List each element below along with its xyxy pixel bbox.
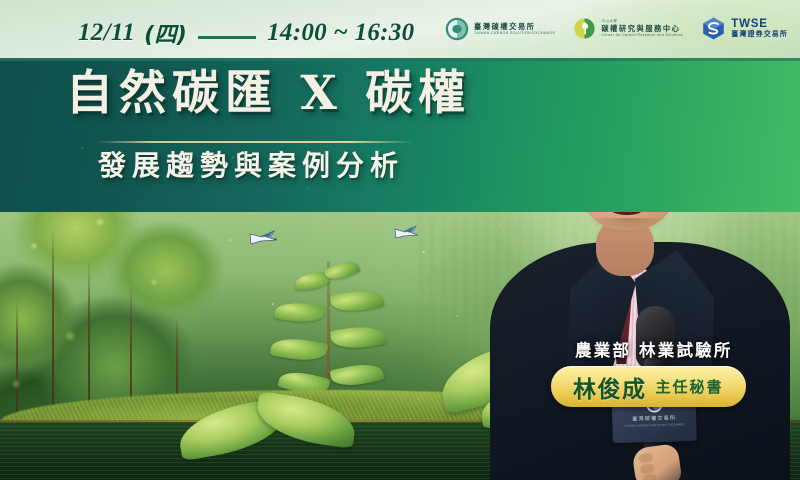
speaker-name: 林俊成 xyxy=(573,370,647,404)
carbon-exchange-mark-icon xyxy=(445,17,469,41)
title-divider xyxy=(96,141,414,143)
speaker-role: 主任秘書 xyxy=(656,376,724,397)
logo-text-block: TWSE 臺灣證券交易所 xyxy=(731,18,788,39)
mic-flag-brand-cjk: 臺灣碳權交易所 xyxy=(632,414,676,422)
logo-text-block: 中山大學 碳權研究與服務中心 Center for Carbon Researc… xyxy=(601,19,683,37)
logo-title-en: TWSE xyxy=(731,18,788,31)
logo-title-cjk: 臺灣證券交易所 xyxy=(731,31,788,39)
flying-bird-icon xyxy=(393,224,419,245)
foreground-leaf-plant-left xyxy=(178,398,348,480)
page-subtitle: 發展趨勢與案例分析 xyxy=(98,152,404,180)
logo-title-en: Center for Carbon Research and Solutions xyxy=(601,33,683,38)
flying-bird-icon xyxy=(248,228,278,251)
logo-title-en: TAIWAN CARBON SOLUTION EXCHANGE xyxy=(474,31,555,36)
speaker-chin-shadow xyxy=(588,218,668,234)
twse-hexagon-mark-icon xyxy=(701,16,726,41)
header-bar: 12/11 (四) 14:00 ~ 16:30 臺灣碳權交易所 TAIWAN C… xyxy=(0,0,800,61)
speaker-name-badge: 林俊成 主任秘書 xyxy=(551,366,746,407)
datetime-separator-rule xyxy=(198,36,256,39)
event-weekday: (四) xyxy=(144,17,187,49)
partner-logos: 臺灣碳權交易所 TAIWAN CARBON SOLUTION EXCHANGE … xyxy=(445,16,788,41)
leaf-person-mark-icon xyxy=(573,17,596,40)
logo-title-cjk: 臺灣碳權交易所 xyxy=(474,22,555,31)
event-time-range: 14:00 ~ 16:30 xyxy=(267,19,414,47)
event-datetime: 12/11 (四) 14:00 ~ 16:30 xyxy=(78,17,414,49)
speaker-organization: 農業部 林業試驗所 xyxy=(575,337,733,361)
speaker-hand xyxy=(631,443,682,480)
logo-center-for-carbon-research-and-solutions[interactable]: 中山大學 碳權研究與服務中心 Center for Carbon Researc… xyxy=(573,17,683,40)
title-band-fade xyxy=(440,61,800,212)
event-poster: 臺灣碳權交易所 TAIWAN CARBON SOLUTION EXCHANGE … xyxy=(0,0,800,480)
logo-title-cjk: 碳權研究與服務中心 xyxy=(601,24,683,33)
logo-twse[interactable]: TWSE 臺灣證券交易所 xyxy=(701,16,788,41)
logo-taiwan-carbon-solution-exchange[interactable]: 臺灣碳權交易所 TAIWAN CARBON SOLUTION EXCHANGE xyxy=(445,17,555,41)
mic-flag-brand-en: TAIWAN CARBON SOLUTION EXCHANGE xyxy=(624,423,684,428)
logo-text-block: 臺灣碳權交易所 TAIWAN CARBON SOLUTION EXCHANGE xyxy=(474,22,555,36)
page-title: 自然碳匯 X 碳權 xyxy=(66,70,471,117)
event-date: 12/11 xyxy=(78,19,135,47)
